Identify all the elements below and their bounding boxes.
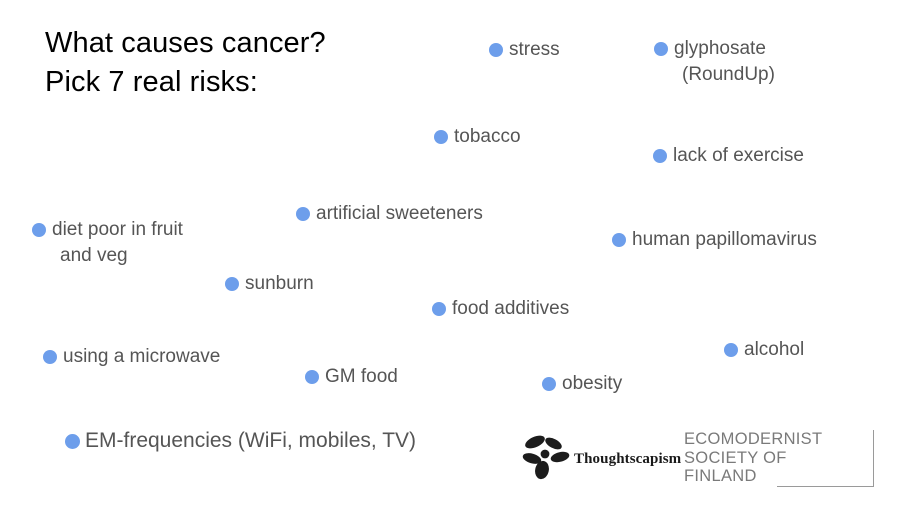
- risk-option-using-a-microwave[interactable]: using a microwave: [43, 344, 220, 370]
- risk-option-gm-food[interactable]: GM food: [305, 364, 398, 390]
- risk-option-tobacco[interactable]: tobacco: [434, 124, 521, 150]
- risk-option-glyphosate[interactable]: glyphosate(RoundUp): [654, 36, 775, 88]
- risk-option-hpv[interactable]: human papillomavirus: [612, 227, 817, 253]
- eco-logo-vertical-rule: [873, 430, 874, 486]
- bullet-dot-icon[interactable]: [432, 302, 446, 316]
- bullet-dot-icon[interactable]: [654, 42, 668, 56]
- eco-line-2: SOCIETY OF: [684, 449, 822, 468]
- leaf-flower-icon: [520, 432, 572, 480]
- title-line-2: Pick 7 real risks:: [45, 63, 326, 102]
- risk-option-label: artificial sweeteners: [296, 201, 483, 227]
- bullet-dot-icon[interactable]: [724, 343, 738, 357]
- ecomodernist-society-logo: ECOMODERNIST SOCIETY OF FINLAND: [684, 430, 874, 488]
- risk-option-label-line2: (RoundUp): [674, 62, 775, 88]
- risk-option-lack-of-exercise[interactable]: lack of exercise: [653, 143, 804, 169]
- bullet-dot-icon[interactable]: [43, 350, 57, 364]
- risk-option-label: lack of exercise: [653, 143, 804, 169]
- risk-option-obesity[interactable]: obesity: [542, 371, 622, 397]
- bullet-dot-icon[interactable]: [305, 370, 319, 384]
- risk-option-em-frequencies[interactable]: EM-frequencies (WiFi, mobiles, TV): [65, 427, 416, 455]
- slide-canvas: What causes cancer? Pick 7 real risks: s…: [0, 0, 900, 506]
- risk-option-label-line2: and veg: [52, 243, 183, 269]
- bullet-dot-icon[interactable]: [296, 207, 310, 221]
- bullet-dot-icon[interactable]: [612, 233, 626, 247]
- eco-line-1: ECOMODERNIST: [684, 430, 822, 449]
- risk-option-stress[interactable]: stress: [489, 37, 560, 63]
- eco-line-3: FINLAND: [684, 467, 822, 486]
- risk-option-diet-poor[interactable]: diet poor in fruitand veg: [32, 217, 183, 269]
- risk-option-sunburn[interactable]: sunburn: [225, 271, 314, 297]
- risk-option-label: human papillomavirus: [612, 227, 817, 253]
- bullet-dot-icon[interactable]: [225, 277, 239, 291]
- thoughtscapism-logo: Thoughtscapism: [520, 432, 685, 480]
- bullet-dot-icon[interactable]: [542, 377, 556, 391]
- risk-option-label: diet poor in fruitand veg: [32, 217, 183, 269]
- risk-option-label: food additives: [432, 296, 569, 322]
- risk-option-label: EM-frequencies (WiFi, mobiles, TV): [65, 427, 416, 455]
- page-title: What causes cancer? Pick 7 real risks:: [45, 24, 326, 102]
- eco-logo-horizontal-rule: [777, 486, 874, 487]
- ecomodernist-wordmark: ECOMODERNIST SOCIETY OF FINLAND: [684, 430, 822, 486]
- bullet-dot-icon[interactable]: [653, 149, 667, 163]
- risk-option-alcohol[interactable]: alcohol: [724, 337, 804, 363]
- title-line-1: What causes cancer?: [45, 24, 326, 63]
- risk-option-food-additives[interactable]: food additives: [432, 296, 569, 322]
- bullet-dot-icon[interactable]: [65, 434, 80, 449]
- bullet-dot-icon[interactable]: [489, 43, 503, 57]
- risk-option-artificial-sweeteners[interactable]: artificial sweeteners: [296, 201, 483, 227]
- risk-option-label: using a microwave: [43, 344, 220, 370]
- risk-option-label: glyphosate(RoundUp): [654, 36, 775, 88]
- bullet-dot-icon[interactable]: [32, 223, 46, 237]
- bullet-dot-icon[interactable]: [434, 130, 448, 144]
- thoughtscapism-wordmark: Thoughtscapism: [574, 451, 681, 468]
